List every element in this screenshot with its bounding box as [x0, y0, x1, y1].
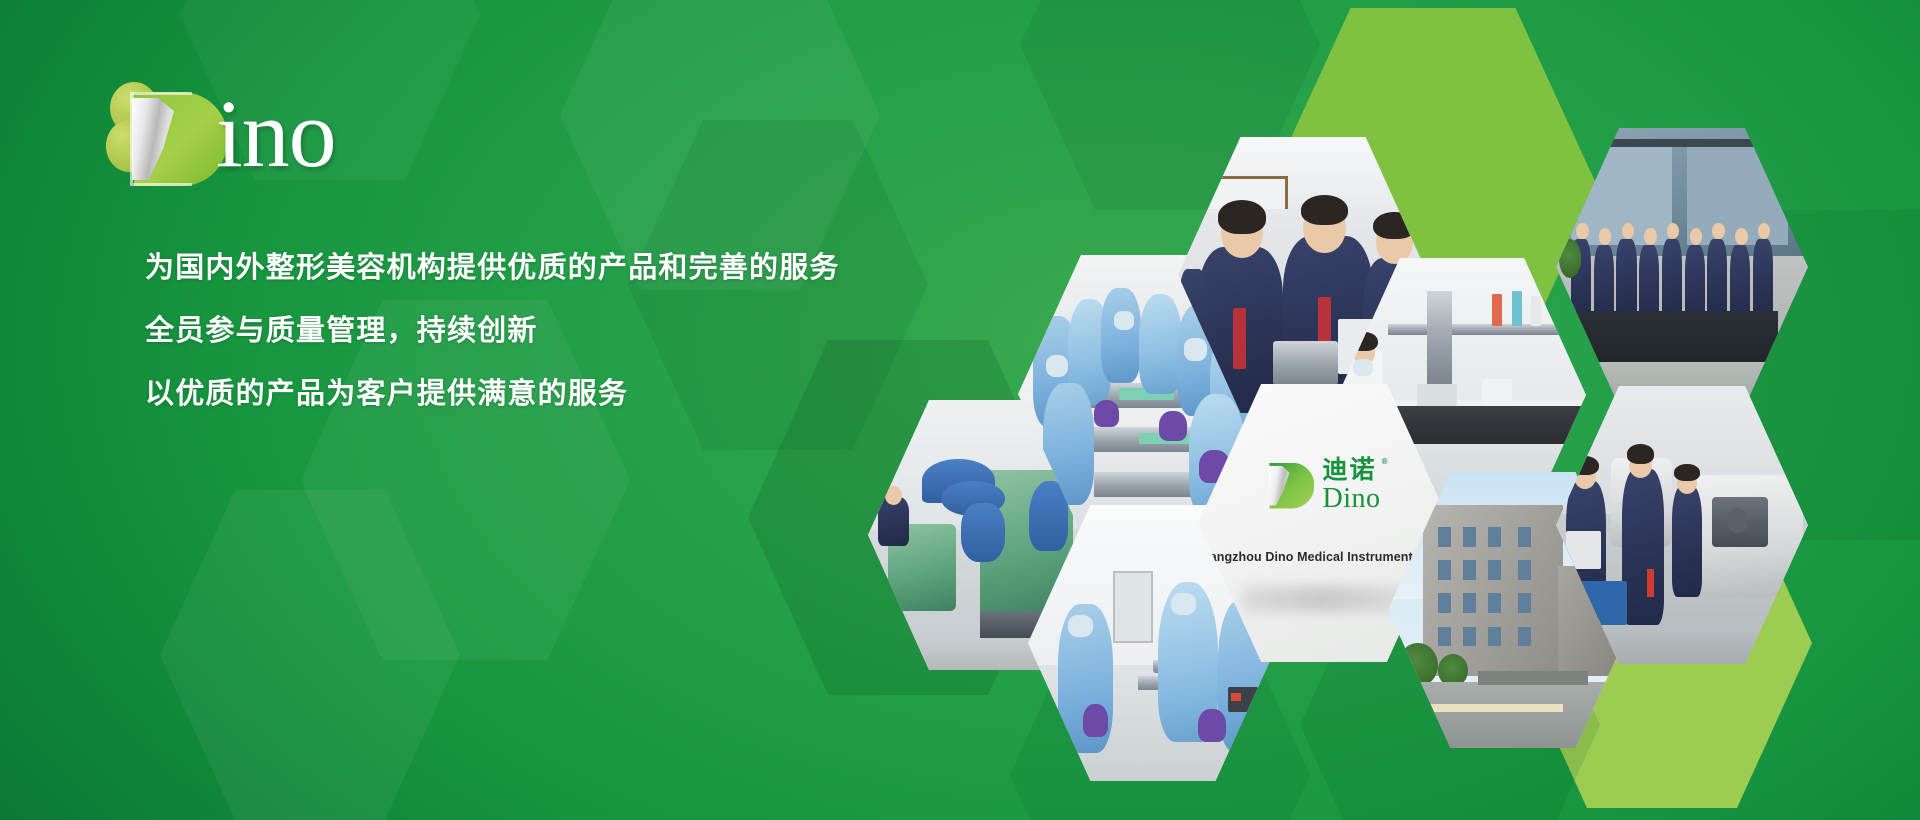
brand-name-cn-text: 迪诺	[1323, 456, 1377, 484]
brand-name-en: Dino	[1323, 485, 1381, 513]
slogan-block: 为国内外整形美容机构提供优质的产品和完善的服务 全员参与质量管理，持续创新 以优…	[145, 254, 905, 443]
registered-trademark-icon: ®	[1382, 458, 1390, 466]
company-banner: ino 为国内外整形美容机构提供优质的产品和完善的服务 全员参与质量管理，持续创…	[0, 0, 1920, 820]
dino-wordmark-text: ino	[216, 86, 336, 182]
bg-hexagon-upper-mid	[560, 0, 880, 290]
slogan-line-1: 为国内外整形美容机构提供优质的产品和完善的服务	[145, 254, 905, 283]
photo-hex-staff-group-photo	[1556, 128, 1808, 406]
brand-name-cn: 迪诺 ®	[1323, 458, 1381, 483]
dino-d-mark-icon	[130, 92, 226, 186]
brand-logo: 迪诺 ® Dino	[1198, 458, 1450, 513]
dino-d-mark-icon	[1268, 463, 1314, 509]
blurred-strip	[1242, 586, 1406, 612]
dino-logo: ino	[104, 78, 434, 186]
bg-hexagon-lower-left	[160, 490, 460, 820]
slogan-line-2: 全员参与质量管理，持续创新	[145, 317, 905, 346]
slogan-line-3: 以优质的产品为客户提供满意的服务	[145, 380, 905, 409]
